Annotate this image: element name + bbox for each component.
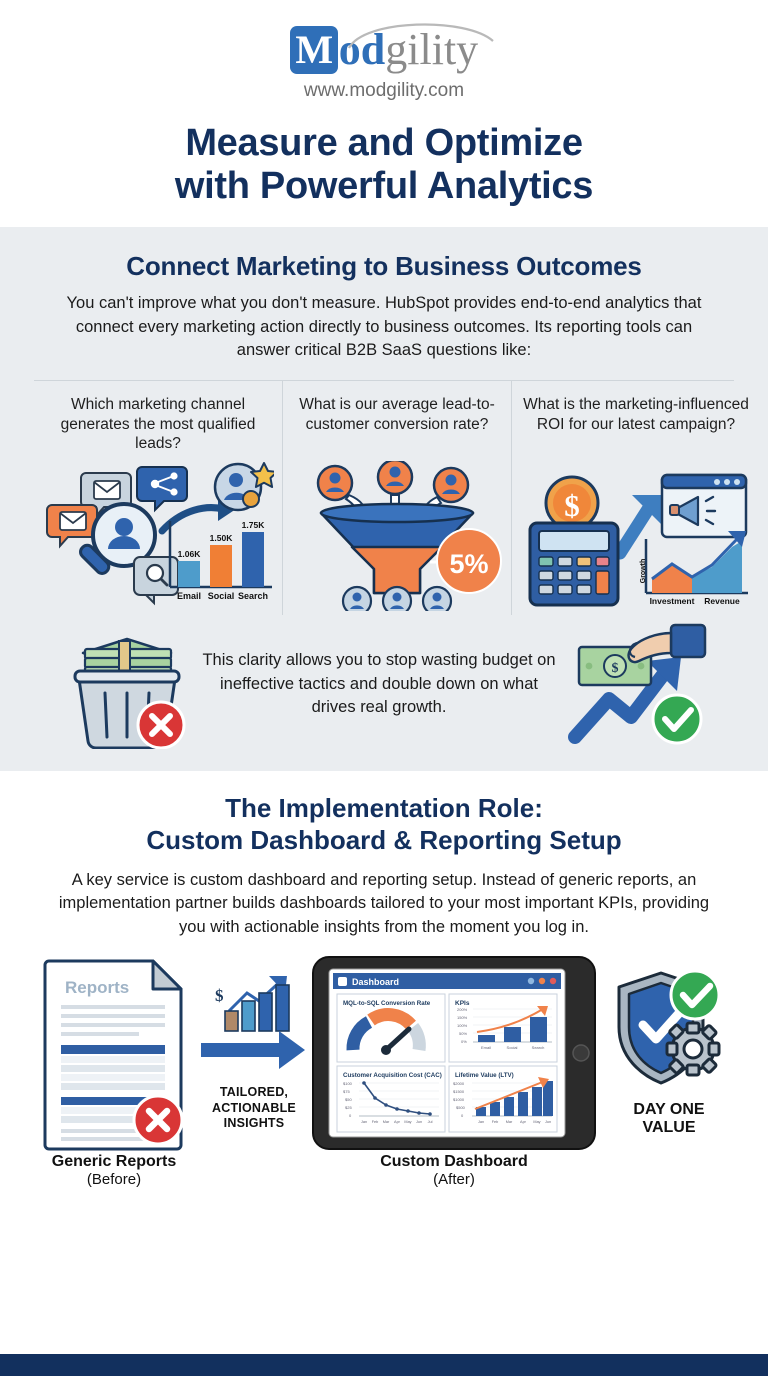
arrow-label-line1: TAILORED, — [199, 1085, 309, 1101]
svg-text:$: $ — [564, 488, 580, 523]
bar-value-1: 1.50K — [210, 533, 234, 543]
search-card-icon — [134, 557, 178, 603]
generic-report-doc-icon: Reports — [29, 953, 199, 1153]
logo-mark-icon: M — [290, 26, 338, 74]
svg-text:$50: $50 — [345, 1097, 352, 1102]
bar-value-2: 1.75K — [242, 520, 266, 530]
reinvest-growth-icon: $ — [565, 619, 715, 749]
value-label-line2: VALUE — [599, 1119, 739, 1137]
svg-text:50%: 50% — [459, 1031, 467, 1036]
svg-text:150%: 150% — [457, 1015, 468, 1020]
svg-text:$: $ — [612, 661, 619, 676]
campaign-browser-icon — [662, 475, 746, 537]
arrow-label-line2: ACTIONABLE — [199, 1101, 309, 1117]
flow-value: DAY ONE VALUE — [599, 953, 739, 1137]
funnel-output-avatars — [343, 587, 451, 611]
logo-text-od: od — [339, 28, 385, 72]
question-text-2: What is our average lead-to-customer con… — [291, 395, 503, 455]
roi-ylabel: Growth — [640, 559, 647, 584]
after-caption-note: (After) — [309, 1171, 599, 1188]
implementation-body: A key service is custom dashboard and re… — [54, 869, 714, 939]
question-text-1: Which marketing channel generates the mo… — [42, 395, 274, 455]
day-one-value-icon — [599, 965, 729, 1095]
svg-text:May: May — [533, 1120, 540, 1124]
bar-label-0: Email — [177, 591, 201, 601]
panel-title-2: Customer Acquisition Cost (CAC) — [343, 1072, 442, 1079]
logo-url: www.modgility.com — [290, 80, 478, 102]
roi-area-chart: Growth Investment Revenue — [640, 531, 748, 606]
roi-label-0: Investment — [650, 596, 695, 606]
flow-before: Reports — [29, 953, 199, 1188]
flow-arrow: $ TAILORED, ACTIONABLE INSIGHTS — [199, 953, 309, 1132]
question-column-conversion: What is our average lead-to-customer con… — [282, 381, 511, 615]
funnel-illustration: 5% — [291, 461, 503, 611]
dashboard-panel-cac: Customer Acquisition Cost (CAC) $100$75 … — [337, 1066, 445, 1132]
svg-text:Jan: Jan — [478, 1120, 484, 1124]
implementation-title: The Implementation Role: Custom Dashboar… — [0, 793, 768, 856]
bar-label-1: Social — [208, 591, 235, 601]
svg-text:Jun: Jun — [416, 1120, 422, 1124]
qualified-lead-avatar-icon — [215, 463, 274, 510]
svg-text:Jan: Jan — [361, 1120, 367, 1124]
dashboard-panel-gauge: MQL-to-SQL Conversion Rate — [337, 994, 445, 1062]
wasted-budget-icon — [53, 619, 193, 749]
svg-text:$: $ — [215, 986, 224, 1005]
funnel-art-svg: 5% — [291, 461, 503, 611]
svg-text:$2000: $2000 — [453, 1081, 465, 1086]
logo-text-gility: gility — [385, 28, 478, 72]
before-caption-note: (Before) — [29, 1171, 199, 1188]
insights-arrow-icon: $ — [199, 971, 309, 1081]
svg-text:Mar: Mar — [383, 1120, 390, 1124]
red-x-badge-icon — [138, 702, 184, 748]
report-doc-table-1 — [61, 1045, 165, 1090]
bar-value-0: 1.06K — [178, 549, 202, 559]
svg-text:Email: Email — [481, 1045, 491, 1050]
svg-text:Jun: Jun — [545, 1120, 551, 1124]
report-doc-title: Reports — [65, 978, 129, 997]
roi-art-svg: $ — [520, 461, 752, 611]
tablet-dashboard: Dashboard MQL-to-SQL Conversion Rate — [309, 953, 599, 1153]
page-title-line2: with Powerful Analytics — [0, 165, 768, 208]
dashboard-panel-kpis: KPIs 200%150% 100%50%0% — [449, 994, 557, 1062]
outcomes-section: Connect Marketing to Business Outcomes Y… — [0, 227, 768, 771]
svg-text:$1000: $1000 — [453, 1097, 465, 1102]
dashboard-titlebar-label: Dashboard — [352, 977, 399, 987]
value-label: DAY ONE VALUE — [599, 1101, 739, 1137]
infographic-page: M od gility www.modgility.com Measure an… — [0, 0, 768, 1376]
page-title: Measure and Optimize with Powerful Analy… — [0, 122, 768, 207]
gear-icon — [667, 1023, 719, 1075]
implementation-section: The Implementation Role: Custom Dashboar… — [0, 771, 768, 1188]
channel-illustration: 1.06K 1.50K 1.75K Email Social Search — [42, 461, 274, 611]
svg-text:Apr: Apr — [520, 1120, 527, 1124]
arrow-label: TAILORED, ACTIONABLE INSIGHTS — [199, 1085, 309, 1132]
before-after-flow: Reports — [0, 953, 768, 1188]
question-column-roi: What is the marketing-influenced ROI for… — [511, 381, 760, 615]
svg-text:Social: Social — [507, 1045, 518, 1050]
roi-label-1: Revenue — [704, 596, 740, 606]
panel-title-0: MQL-to-SQL Conversion Rate — [343, 1000, 431, 1007]
clarity-text: This clarity allows you to stop wasting … — [199, 649, 559, 719]
svg-text:$75: $75 — [343, 1089, 350, 1094]
channel-art-svg: 1.06K 1.50K 1.75K Email Social Search — [42, 461, 274, 611]
cac-x-ticks: JanFebMar AprMayJunJul — [361, 1120, 433, 1124]
svg-text:Feb: Feb — [372, 1120, 379, 1124]
conversion-rate-value: 5% — [449, 549, 488, 579]
svg-text:$1500: $1500 — [453, 1089, 465, 1094]
footer-bar — [0, 1354, 768, 1376]
page-title-line1: Measure and Optimize — [0, 122, 768, 165]
question-text-3: What is the marketing-influenced ROI for… — [520, 395, 752, 455]
bar-label-2: Search — [238, 591, 268, 601]
svg-text:200%: 200% — [457, 1007, 468, 1012]
calculator-icon — [530, 523, 618, 605]
green-check-badge-icon — [671, 971, 719, 1019]
implementation-title-line2: Custom Dashboard & Reporting Setup — [0, 825, 768, 857]
svg-text:Jul: Jul — [428, 1120, 433, 1124]
svg-text:0%: 0% — [461, 1039, 467, 1044]
before-caption-bold: Generic Reports — [29, 1153, 199, 1171]
logo: M od gility www.modgility.com — [290, 26, 478, 102]
kpis-x-ticks: EmailSocialSearch — [481, 1045, 544, 1050]
share-bubble-icon — [137, 467, 187, 510]
hand-icon — [629, 625, 705, 662]
flow-after: Dashboard MQL-to-SQL Conversion Rate — [309, 953, 599, 1188]
svg-text:May: May — [404, 1120, 411, 1124]
svg-text:100%: 100% — [457, 1023, 468, 1028]
roi-illustration: $ — [520, 461, 752, 611]
questions-row: Which marketing channel generates the mo… — [34, 380, 734, 615]
channel-bar-chart: 1.06K 1.50K 1.75K Email Social Search — [170, 520, 272, 601]
dollar-coin-icon: $ — [546, 477, 598, 529]
clarity-strip: This clarity allows you to stop wasting … — [0, 619, 768, 749]
email-bubble-orange-icon — [47, 505, 97, 546]
svg-text:Apr: Apr — [394, 1120, 401, 1124]
implementation-title-line1: The Implementation Role: — [0, 793, 768, 825]
svg-text:$25: $25 — [345, 1105, 352, 1110]
green-check-badge-icon — [653, 695, 701, 743]
svg-text:Search: Search — [532, 1045, 545, 1050]
outcomes-title: Connect Marketing to Business Outcomes — [0, 251, 768, 282]
red-x-badge-icon — [134, 1096, 182, 1144]
header: M od gility www.modgility.com Measure an… — [0, 0, 768, 207]
panel-title-3: Lifetime Value (LTV) — [455, 1072, 514, 1079]
dashboard-panel-ltv: Lifetime Value (LTV) $2000$1500 $1000$50… — [449, 1066, 557, 1132]
svg-text:Feb: Feb — [492, 1120, 499, 1124]
logo-wordmark: M od gility — [290, 26, 478, 74]
after-caption-bold: Custom Dashboard — [309, 1153, 599, 1171]
svg-text:Mar: Mar — [506, 1120, 513, 1124]
panel-title-1: KPIs — [455, 1000, 470, 1007]
svg-text:$500: $500 — [456, 1105, 466, 1110]
right-arrow-icon — [201, 1031, 305, 1069]
value-label-line1: DAY ONE — [599, 1101, 739, 1119]
svg-text:$100: $100 — [343, 1081, 353, 1086]
arrow-label-line3: INSIGHTS — [199, 1116, 309, 1132]
growth-bars-icon: $ — [215, 976, 289, 1031]
outcomes-body: You can't improve what you don't measure… — [54, 292, 714, 362]
question-column-channels: Which marketing channel generates the mo… — [34, 381, 282, 615]
